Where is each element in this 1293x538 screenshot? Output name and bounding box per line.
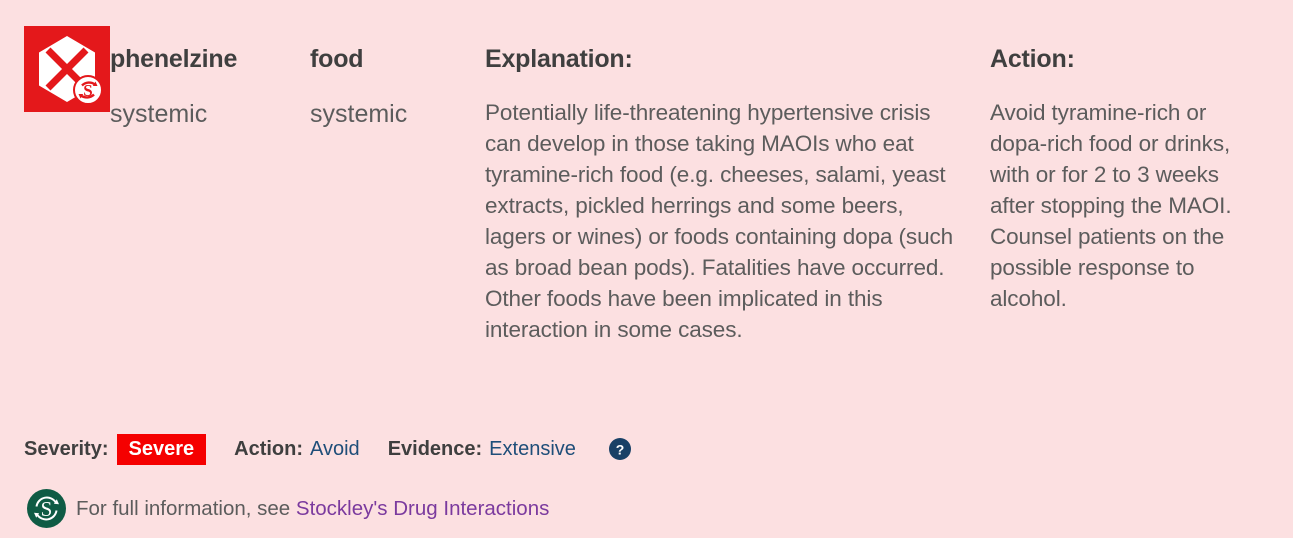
action-label: Action: — [234, 438, 303, 461]
severity-label: Severity: — [24, 438, 109, 461]
explanation-heading: Explanation: — [485, 44, 990, 74]
severity-icon-cell: S — [0, 0, 110, 112]
stockley-logo: S — [27, 489, 66, 528]
drug-name: phenelzine — [110, 44, 310, 74]
status-badge[interactable]: Severe — [117, 434, 207, 465]
drug-route: systemic — [110, 99, 310, 129]
svg-text:?: ? — [616, 441, 625, 457]
svg-text:S: S — [41, 497, 53, 521]
interactant-column: food systemic — [310, 0, 485, 129]
question-mark-icon[interactable]: ? — [609, 438, 631, 460]
interaction-summary-row: S phenelzine systemic food systemic Expl… — [0, 0, 1293, 345]
svg-text:S: S — [83, 81, 92, 100]
drug-interaction-card: S phenelzine systemic food systemic Expl… — [0, 0, 1293, 538]
evidence-group: Evidence: Extensive — [388, 438, 576, 461]
action-heading: Action: — [990, 44, 1258, 74]
explanation-text: Potentially life-threatening hypertensiv… — [485, 97, 955, 345]
evidence-value[interactable]: Extensive — [489, 438, 576, 461]
drug-column: phenelzine systemic — [110, 0, 310, 129]
explanation-column: Explanation: Potentially life-threatenin… — [485, 0, 990, 345]
stockley-link[interactable]: Stockley's Drug Interactions — [296, 497, 549, 521]
action-value[interactable]: Avoid — [310, 438, 360, 461]
interaction-meta-row: Severity: Severe Action: Avoid Evidence:… — [24, 432, 631, 466]
interactant-route: systemic — [310, 99, 485, 129]
evidence-label: Evidence: — [388, 438, 482, 461]
action-text: Avoid tyramine-rich or dopa-rich food or… — [990, 97, 1238, 314]
interactant-name: food — [310, 44, 485, 74]
severe-interaction-icon: S — [24, 26, 110, 112]
action-column: Action: Avoid tyramine-rich or dopa-rich… — [990, 0, 1258, 314]
severity-group: Severity: Severe — [24, 434, 206, 465]
footer-attribution-row: S For full information, see Stockley's D… — [27, 489, 549, 528]
action-group: Action: Avoid — [234, 438, 360, 461]
footer-text: For full information, see — [76, 497, 296, 521]
